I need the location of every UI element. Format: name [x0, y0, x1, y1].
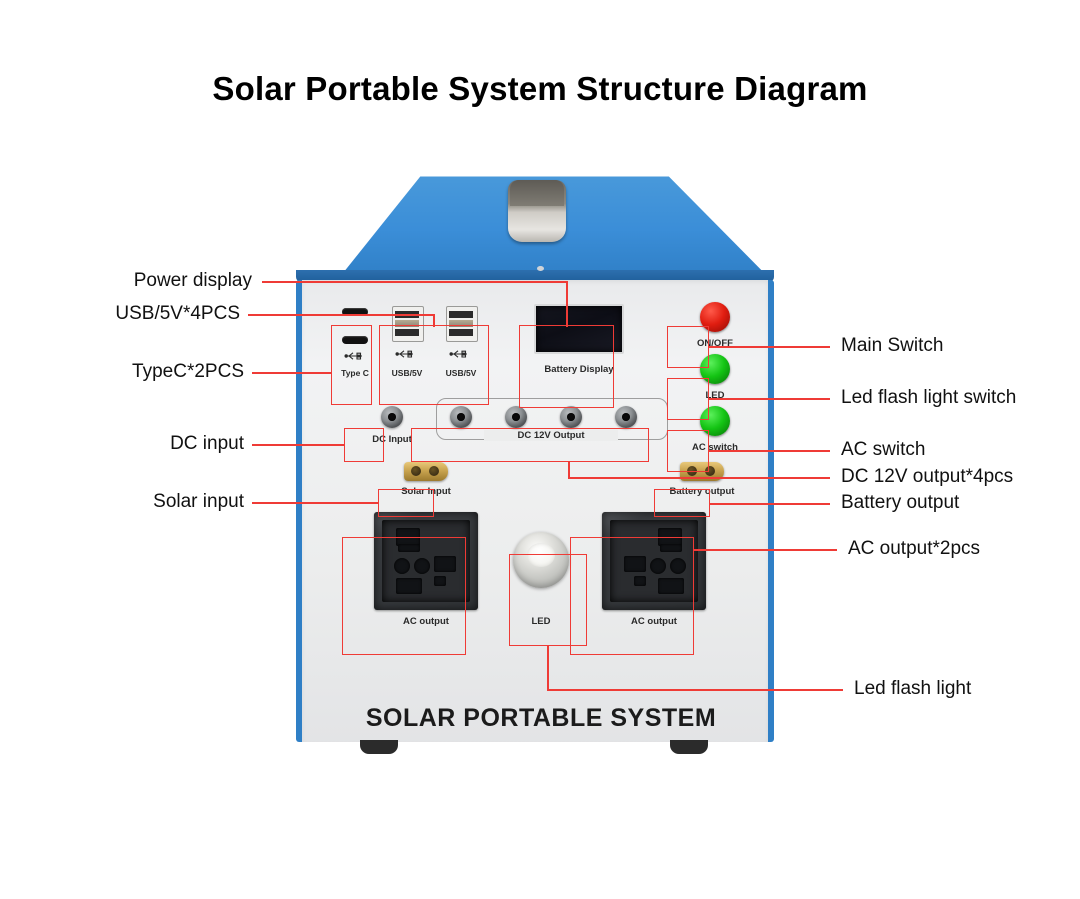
device-illustration: Type C USB/5V USB/5V Battery Display ON/…	[272, 170, 792, 770]
highlight-ac-output-right	[570, 537, 694, 655]
highlight-battery-output	[654, 489, 710, 517]
callout-ac-output-2pcs: AC output*2pcs	[848, 538, 980, 560]
highlight-usb-group	[379, 325, 489, 405]
leader-dc12v	[568, 477, 830, 479]
dc-input-jack	[381, 406, 403, 428]
leader-usb-drop	[433, 314, 435, 327]
callout-typec-2pcs: TypeC*2PCS	[0, 361, 246, 383]
callout-main-switch: Main Switch	[841, 335, 943, 357]
leader-battery-output	[709, 503, 830, 505]
leader-led-flash	[547, 689, 843, 691]
leader-ac-switch	[708, 450, 830, 452]
callout-dc-12v-output-4pcs: DC 12V output*4pcs	[841, 466, 1013, 488]
highlight-led-flash-light	[509, 554, 587, 646]
handle-top	[510, 180, 564, 206]
highlight-dc-12v-output	[411, 428, 649, 462]
leader-main-switch	[708, 346, 830, 348]
leader-solar-input	[252, 502, 379, 504]
highlight-battery-display	[519, 325, 614, 408]
solar-input-terminal	[404, 462, 448, 481]
leader-dc12v-drop	[568, 461, 570, 478]
callout-solar-input: Solar input	[0, 491, 246, 513]
leader-typec	[252, 372, 332, 374]
dc-12v-output-jack-3	[560, 406, 582, 428]
highlight-dc-input	[344, 428, 384, 462]
callout-power-display: Power display	[0, 270, 254, 292]
leader-dc-input	[252, 444, 345, 446]
lid-screw	[537, 266, 544, 271]
leader-ac-output	[693, 549, 837, 551]
callout-usb-5v-4pcs: USB/5V*4PCS	[0, 303, 242, 325]
device-foot-left	[360, 740, 398, 754]
device-brand-text: SOLAR PORTABLE SYSTEM	[302, 704, 780, 733]
carry-handle	[508, 180, 566, 242]
leader-led-flash-drop	[547, 645, 549, 690]
callout-led-flash-light: Led flash light	[854, 678, 971, 700]
highlight-solar-input	[378, 489, 434, 517]
highlight-ac-output-left	[342, 537, 466, 655]
dc-12v-output-jack-1	[450, 406, 472, 428]
callout-dc-input: DC input	[0, 433, 246, 455]
callout-led-flash-light-switch: Led flash light switch	[841, 387, 1016, 409]
highlight-ac-switch	[667, 430, 709, 472]
dc-12v-output-jack-2	[505, 406, 527, 428]
leader-power-display-drop	[566, 281, 568, 327]
highlight-led-switch	[667, 378, 709, 420]
callout-battery-output: Battery output	[841, 492, 959, 514]
leader-led-switch	[708, 398, 830, 400]
highlight-main-switch	[667, 326, 709, 368]
leader-power-display	[262, 281, 567, 283]
leader-usb	[248, 314, 434, 316]
callout-ac-switch: AC switch	[841, 439, 925, 461]
dc-12v-output-jack-4	[615, 406, 637, 428]
highlight-type-c	[331, 325, 372, 405]
page-title: Solar Portable System Structure Diagram	[0, 70, 1080, 108]
device-foot-right	[670, 740, 708, 754]
